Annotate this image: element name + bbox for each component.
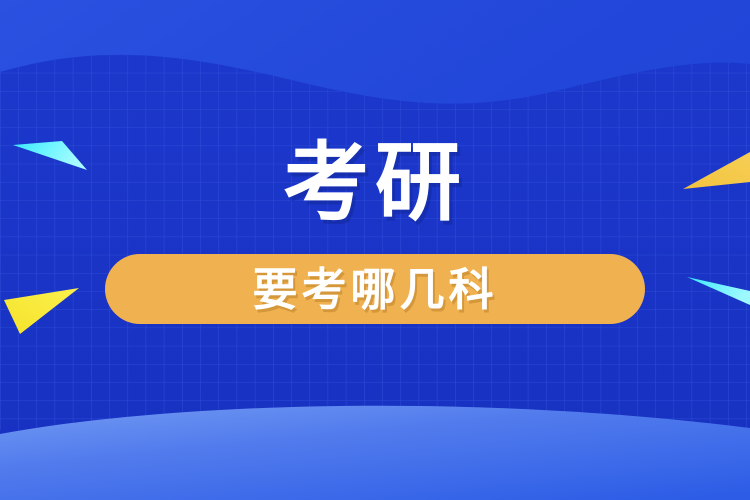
subtitle-text: 要考哪几科 <box>252 267 497 312</box>
banner-container: 考研 要考哪几科 <box>0 0 750 500</box>
subtitle-pill: 要考哪几科 <box>105 254 645 324</box>
main-title: 考研 <box>283 140 467 226</box>
banner-content: 考研 要考哪几科 <box>0 0 750 500</box>
